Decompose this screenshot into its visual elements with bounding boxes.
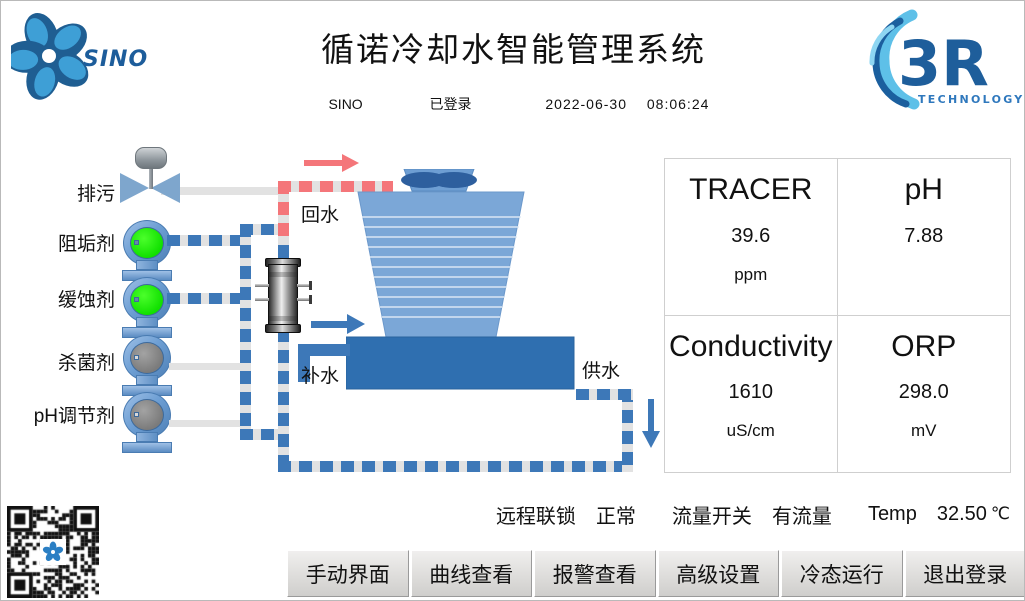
status-row: 远程联锁 正常 流量开关 有流量 Temp 32.50 ℃ xyxy=(1,495,1025,533)
dosing-line-inhibitor xyxy=(167,293,251,304)
system-time: 08:06:24 xyxy=(647,96,710,112)
measurement-value: 7.88 xyxy=(904,225,943,248)
pump-ph-adjuster[interactable] xyxy=(119,392,175,456)
hx-nozzle-cap-lower xyxy=(309,295,312,304)
measurement-name: pH xyxy=(905,171,943,209)
pump-biocide[interactable] xyxy=(119,335,175,399)
hx-nozzle-cap-upper xyxy=(309,281,312,290)
pump-neck xyxy=(136,432,158,442)
hx-bottom-cap xyxy=(265,324,301,333)
chem-label-blowdown: 排污 xyxy=(0,179,115,206)
loop-pipe-left-vertical xyxy=(240,224,251,440)
pump-base xyxy=(122,442,172,453)
blowdown-valve[interactable] xyxy=(120,147,182,205)
measurement-panel: TRACER 39.6 ppm pH 7.88 Conductivity 161… xyxy=(664,158,1011,473)
chem-label-biocide: 杀菌剂 xyxy=(0,348,115,375)
measurement-value: 1610 xyxy=(729,381,774,404)
temp-unit: ℃ xyxy=(991,504,1010,524)
chem-label-antiscalant: 阻垢剂 xyxy=(0,229,115,256)
button-cold-standby-run[interactable]: 冷态运行 xyxy=(781,550,903,597)
label-makeup-water: 补水 xyxy=(301,361,339,388)
dosing-line-biocide xyxy=(169,363,251,370)
temp-value: 32.50 xyxy=(937,503,987,526)
pump-dial-center xyxy=(134,240,139,245)
valve-stem xyxy=(149,167,153,189)
label-return-water: 回水 xyxy=(301,200,339,227)
3r-technology-logo: 3R TECHNOLOGY xyxy=(854,7,1014,119)
measurement-tracer[interactable]: TRACER 39.6 ppm xyxy=(665,159,838,316)
chem-label-ph-adjuster: pH调节剂 xyxy=(0,401,115,428)
dosing-line-antiscalant xyxy=(167,235,251,246)
qr-code[interactable] xyxy=(7,506,99,598)
button-alarm-view[interactable]: 报警查看 xyxy=(534,550,656,597)
header: SINO 循诺冷却水智能管理系统 SINO 已登录 2022-06-30 08:… xyxy=(1,1,1025,126)
heat-exchanger[interactable] xyxy=(263,256,303,334)
measurement-unit: ppm xyxy=(734,265,767,285)
pump-neck xyxy=(136,260,158,270)
flow-switch-value: 有流量 xyxy=(772,500,832,529)
pump-corrosion-inhibitor[interactable] xyxy=(119,277,175,341)
current-user: SINO xyxy=(318,96,374,112)
hx-flange-top xyxy=(269,272,297,277)
pump-dial-center xyxy=(134,355,139,360)
measurement-ph[interactable]: pH 7.88 xyxy=(838,159,1011,316)
login-status: 已登录 xyxy=(429,94,471,114)
remote-interlock-value: 正常 xyxy=(596,500,636,529)
measurement-name: ORP xyxy=(891,328,956,366)
temp-label: Temp xyxy=(868,503,917,526)
button-trend-view[interactable]: 曲线查看 xyxy=(411,550,533,597)
nav-button-bar: 手动界面 曲线查看 报警查看 高级设置 冷态运行 退出登录 xyxy=(287,550,1025,597)
measurement-name: Conductivity xyxy=(669,328,832,366)
svg-text:3R: 3R xyxy=(898,27,989,100)
valve-left-body xyxy=(120,173,149,203)
dosing-line-ph xyxy=(169,420,251,427)
remote-interlock-label: 远程联锁 xyxy=(496,500,576,529)
measurement-value: 39.6 xyxy=(731,225,770,248)
down-arrow-shaft xyxy=(648,399,654,435)
hmi-window: SINO 循诺冷却水智能管理系统 SINO 已登录 2022-06-30 08:… xyxy=(0,0,1025,601)
measurement-value: 298.0 xyxy=(899,381,949,404)
cooling-tower[interactable] xyxy=(346,169,636,421)
button-logout[interactable]: 退出登录 xyxy=(905,550,1025,597)
measurement-unit: mV xyxy=(911,421,937,441)
hx-flange-bottom xyxy=(269,316,297,321)
qr-center-logo xyxy=(40,539,66,565)
pump-neck xyxy=(136,317,158,327)
loop-pipe-bottom-run xyxy=(278,461,633,472)
system-date: 2022-06-30 xyxy=(545,96,627,112)
valve-handle xyxy=(135,147,167,169)
measurement-name: TRACER xyxy=(689,171,812,209)
3r-tagline: TECHNOLOGY xyxy=(918,93,1025,106)
button-manual-screen[interactable]: 手动界面 xyxy=(287,550,409,597)
measurement-unit: uS/cm xyxy=(727,421,775,441)
measurement-conductivity[interactable]: Conductivity 1610 uS/cm xyxy=(665,316,838,473)
pump-neck xyxy=(136,375,158,385)
hx-nozzle-left-upper xyxy=(255,284,269,287)
button-advanced-settings[interactable]: 高级设置 xyxy=(658,550,780,597)
hx-nozzle-left-lower xyxy=(255,298,269,301)
valve-right-body xyxy=(151,173,180,203)
chem-label-inhibitor: 缓蚀剂 xyxy=(0,285,115,312)
pump-dial-center xyxy=(134,412,139,417)
return-arrow-shaft xyxy=(304,160,344,166)
flow-switch-label: 流量开关 xyxy=(672,500,752,529)
down-arrow-head xyxy=(642,431,660,448)
supply-arrow-shaft xyxy=(311,321,349,328)
pump-antiscalant[interactable] xyxy=(119,220,175,284)
pump-dial-center xyxy=(134,297,139,302)
label-supply-water: 供水 xyxy=(582,356,620,383)
measurement-orp[interactable]: ORP 298.0 mV xyxy=(838,316,1011,473)
